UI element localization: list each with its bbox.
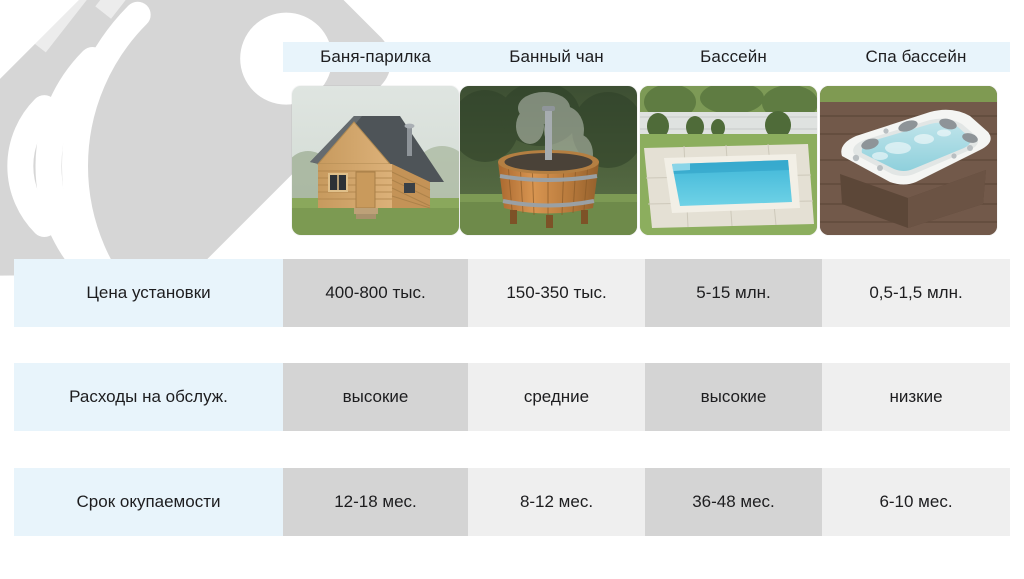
cell-payback-period-chan: 8-12 мес. [468, 468, 645, 536]
cell-payback-period-pool: 36-48 мес. [645, 468, 822, 536]
cell-payback-period-banya: 12-18 мес. [283, 468, 468, 536]
cell-install-price-pool: 5-15 млн. [645, 259, 822, 327]
cell-value: 12-18 мес. [334, 492, 417, 512]
cell-value: 0,5-1,5 млн. [869, 283, 962, 303]
wooden-hot-tub-photo [460, 86, 637, 235]
swimming-pool-photo [640, 86, 817, 235]
column-header-label: Бассейн [700, 47, 767, 67]
column-header-pool: Бассейн [645, 42, 822, 72]
sauna-cabin-photo [292, 86, 459, 235]
row-label-text: Расходы на обслуж. [69, 387, 228, 407]
table-row: Расходы на обслуж. высокие средние высок… [0, 363, 1024, 431]
cell-value: 400-800 тыс. [325, 283, 425, 303]
row-label-maintenance-cost: Расходы на обслуж. [14, 363, 283, 431]
table-row: Срок окупаемости 12-18 мес. 8-12 мес. 36… [0, 468, 1024, 536]
cell-install-price-banya: 400-800 тыс. [283, 259, 468, 327]
row-label-payback-period: Срок окупаемости [14, 468, 283, 536]
row-label-text: Срок окупаемости [77, 492, 221, 512]
column-header-chan: Банный чан [468, 42, 645, 72]
column-image-row [0, 86, 1024, 235]
cell-value: высокие [701, 387, 767, 407]
spa-hot-tub-photo [820, 86, 997, 235]
column-header-label: Банный чан [509, 47, 604, 67]
cell-value: 5-15 млн. [696, 283, 770, 303]
cell-payback-period-spa: 6-10 мес. [822, 468, 1010, 536]
cell-maintenance-cost-spa: низкие [822, 363, 1010, 431]
comparison-grid: Баня-парилка Банный чан Бассейн Спа басс… [0, 0, 1024, 579]
cell-value: 6-10 мес. [879, 492, 952, 512]
comparison-table-slide: Баня-парилка Банный чан Бассейн Спа басс… [0, 0, 1024, 579]
column-header-label: Спа бассейн [866, 47, 967, 67]
column-header-row: Баня-парилка Банный чан Бассейн Спа басс… [0, 42, 1024, 72]
cell-value: низкие [889, 387, 942, 407]
cell-install-price-spa: 0,5-1,5 млн. [822, 259, 1010, 327]
column-header-label: Баня-парилка [320, 47, 431, 67]
column-header-banya: Баня-парилка [283, 42, 468, 72]
column-header-spa: Спа бассейн [822, 42, 1010, 72]
cell-maintenance-cost-pool: высокие [645, 363, 822, 431]
cell-value: 150-350 тыс. [506, 283, 606, 303]
cell-value: высокие [343, 387, 409, 407]
table-row: Цена установки 400-800 тыс. 150-350 тыс.… [0, 259, 1024, 327]
cell-value: 36-48 мес. [692, 492, 775, 512]
row-label-text: Цена установки [86, 283, 210, 303]
cell-value: средние [524, 387, 589, 407]
row-label-install-price: Цена установки [14, 259, 283, 327]
cell-install-price-chan: 150-350 тыс. [468, 259, 645, 327]
cell-value: 8-12 мес. [520, 492, 593, 512]
cell-maintenance-cost-banya: высокие [283, 363, 468, 431]
cell-maintenance-cost-chan: средние [468, 363, 645, 431]
